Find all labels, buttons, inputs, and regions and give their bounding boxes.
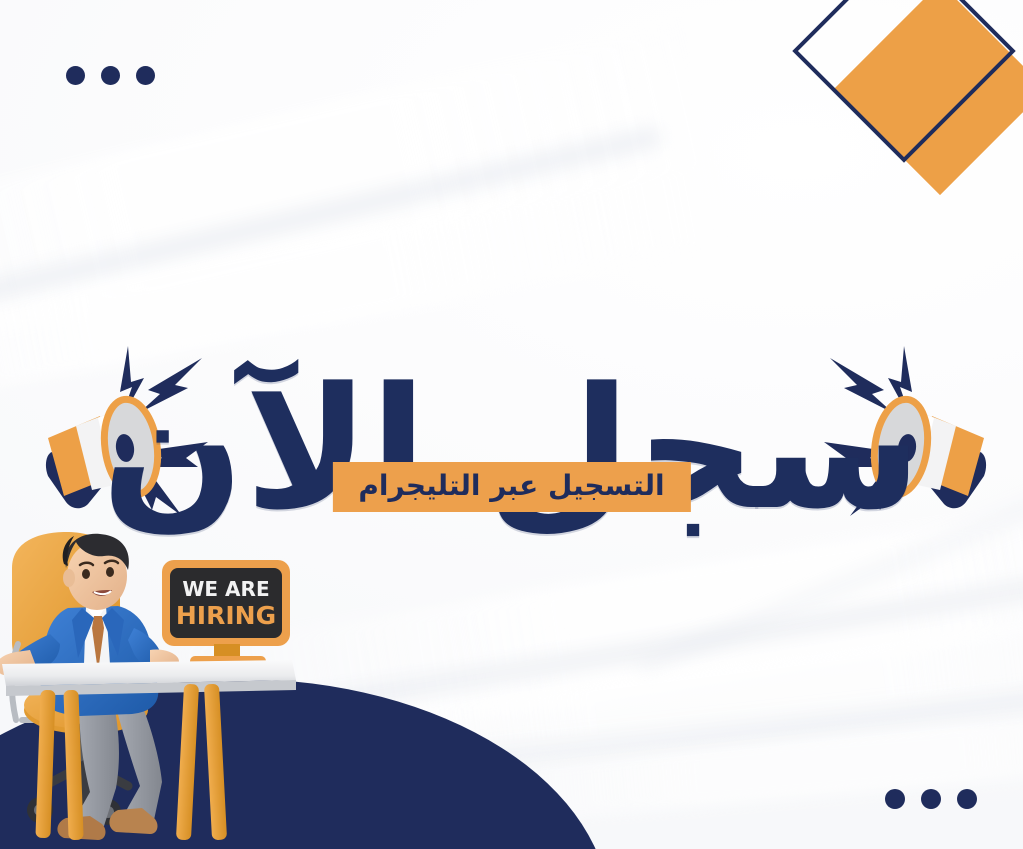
desk-leg	[204, 684, 227, 841]
monitor-line-1: WE ARE	[182, 577, 269, 601]
monitor-line-2: HIRING	[176, 601, 276, 630]
dots-decoration-top-left	[66, 66, 155, 85]
dot-icon	[885, 789, 905, 809]
dot-icon	[957, 789, 977, 809]
dot-icon	[101, 66, 120, 85]
dots-decoration-bottom-right	[885, 789, 977, 809]
dot-icon	[66, 66, 85, 85]
telegram-registration-banner[interactable]: التسجيل عبر التليجرام	[332, 462, 690, 512]
diamond-decoration-group	[769, 0, 1023, 218]
poster-canvas: سجل الآن التسجيل عبر التليجرام	[0, 0, 1023, 849]
dot-icon	[136, 66, 155, 85]
desk-leg	[176, 684, 199, 841]
dot-icon	[921, 789, 941, 809]
hiring-character-illustration: WE ARE HIRING	[0, 524, 304, 849]
